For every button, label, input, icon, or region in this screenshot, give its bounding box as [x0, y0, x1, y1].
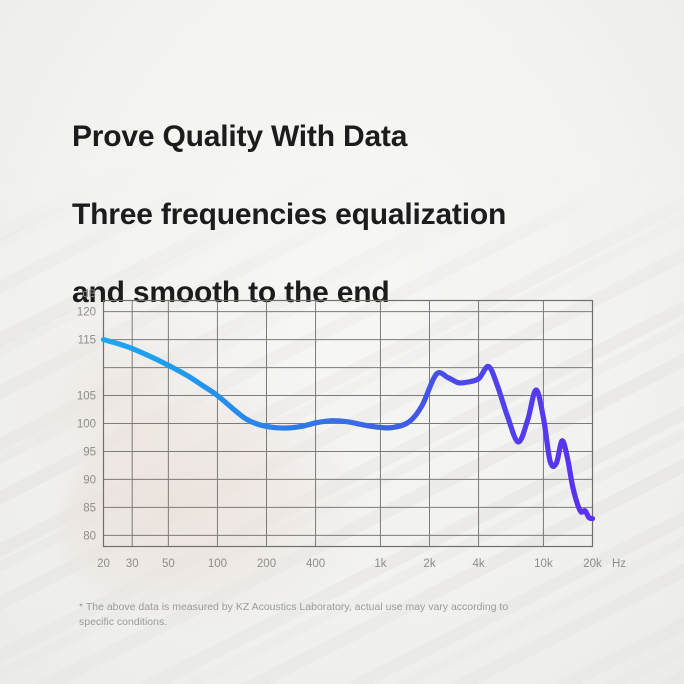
y-axis-tick-label: 100: [77, 419, 96, 431]
x-axis-tick-label: 50: [162, 558, 175, 570]
y-axis-tick-label: 115: [78, 335, 96, 347]
x-axis-tick-label: 30: [126, 558, 139, 570]
x-axis-tick-label: 200: [257, 558, 276, 570]
x-axis-tick-label: 400: [306, 558, 325, 570]
frequency-response-plot: 12011510510095908580 2030501002004001k2k…: [0, 0, 684, 684]
y-axis-tick-label: 85: [83, 502, 96, 514]
x-axis-tick-label: 20k: [583, 558, 602, 570]
x-axis-tick-label: 4k: [472, 558, 484, 570]
y-axis-tick-label: 105: [77, 391, 96, 403]
frequency-response-chart: 12011510510095908580 2030501002004001k2k…: [0, 0, 684, 684]
y-axis-tick-label: 95: [83, 446, 96, 458]
promo-page: Prove Quality With Data Three frequencie…: [0, 0, 684, 684]
x-axis-unit-label: Hz: [612, 558, 626, 570]
disclaimer-note: * The above data is measured by KZ Acous…: [79, 600, 509, 630]
x-axis-tick-label: 1k: [374, 558, 386, 570]
x-axis-tick-label: 20: [97, 558, 110, 570]
y-axis-tick-label: 120: [77, 307, 96, 319]
x-axis-tick-labels: 2030501002004001k2k4k10k20k: [97, 558, 602, 570]
y-axis-tick-labels: 12011510510095908580: [77, 307, 96, 543]
frequency-response-curve: [104, 340, 593, 519]
y-axis-tick-label: 90: [83, 474, 96, 486]
x-axis-tick-label: 10k: [534, 558, 553, 570]
y-axis-tick-label: 80: [83, 530, 96, 542]
x-axis-tick-label: 100: [208, 558, 227, 570]
x-axis-tick-label: 2k: [423, 558, 435, 570]
y-axis-unit-label: dB: [83, 288, 96, 300]
